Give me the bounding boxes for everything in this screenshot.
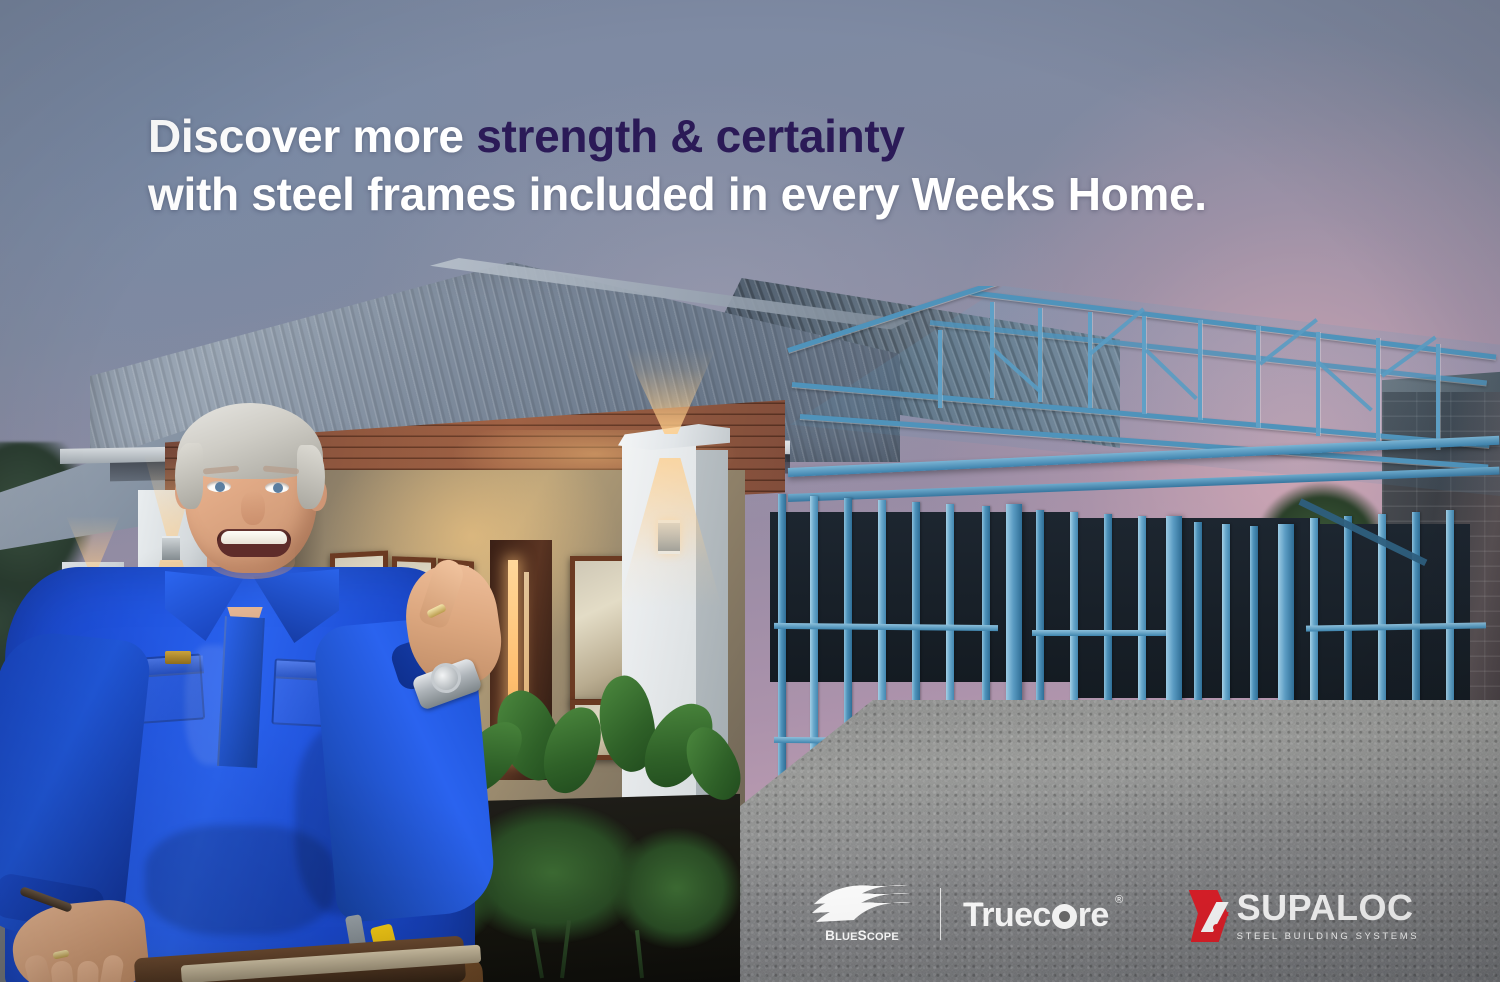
truecore-o-ring-icon <box>1052 904 1077 929</box>
bluescope-wordmark-s: S <box>858 928 867 943</box>
shirt-placket <box>217 616 265 768</box>
headline-line-2: with steel frames included in every Week… <box>148 166 1348 224</box>
finger <box>76 961 99 982</box>
partner-logo-bar: BLUESCOPE Truecre® SUPALOC STEEL BUILDIN… <box>810 872 1419 962</box>
garden-shrub <box>600 826 770 982</box>
bluescope-wordmark-b: B <box>825 928 835 943</box>
headline-plain-text: Discover more <box>148 110 476 162</box>
wall-stud <box>810 496 818 788</box>
truss-web-4 <box>1142 316 1146 414</box>
logo-divider <box>940 888 941 940</box>
iris-right <box>273 483 283 493</box>
nose <box>241 491 265 525</box>
supaloc-tagline: STEEL BUILDING SYSTEMS <box>1237 931 1420 942</box>
truss-web-5 <box>1198 320 1202 420</box>
truss-web-0 <box>938 330 942 408</box>
supaloc-wordmark: SUPALOC <box>1237 890 1420 926</box>
bluescope-coil-icon <box>810 882 914 926</box>
truss-web-8 <box>1376 338 1380 444</box>
truecore-text-before-o: Truec <box>963 896 1051 934</box>
truss-web-3 <box>1088 312 1092 408</box>
teeth <box>221 531 287 544</box>
supaloc-red-dot <box>1213 924 1220 931</box>
headline-accent-text: strength & certainty <box>476 110 905 162</box>
bluescope-wordmark-lue: LUE <box>835 931 858 943</box>
bluescope-wordmark: BLUESCOPE <box>810 928 914 943</box>
hair-side-right <box>297 445 325 509</box>
truss-web-6 <box>1256 326 1260 428</box>
bluescope-logo: BLUESCOPE <box>810 882 918 952</box>
headline-line-1: Discover more strength & certainty <box>148 108 1348 166</box>
hair-side-left <box>175 443 203 509</box>
truecore-logo: Truecre® <box>963 896 1123 935</box>
bluescope-coil-svg <box>810 882 914 926</box>
shirt-shading <box>145 825 335 935</box>
supaloc-text-block: SUPALOC STEEL BUILDING SYSTEMS <box>1237 890 1420 942</box>
truecore-text-after-o: re <box>1078 896 1109 934</box>
iris-left <box>215 482 225 492</box>
truss-web-7 <box>1316 332 1320 436</box>
wall-noggin <box>1032 630 1178 636</box>
shirt-brand-tag <box>165 651 191 664</box>
supaloc-logo: SUPALOC STEEL BUILDING SYSTEMS <box>1187 888 1420 944</box>
headline-block: Discover more strength & certainty with … <box>148 108 1348 224</box>
presenter-figure <box>0 395 515 982</box>
supaloc-mark-icon <box>1187 888 1233 944</box>
bluescope-wordmark-cope: COPE <box>867 931 899 943</box>
registered-trademark-icon: ® <box>1115 894 1123 906</box>
truss-web-9 <box>1436 344 1440 450</box>
marketing-banner: Discover more strength & certainty with … <box>0 0 1500 982</box>
